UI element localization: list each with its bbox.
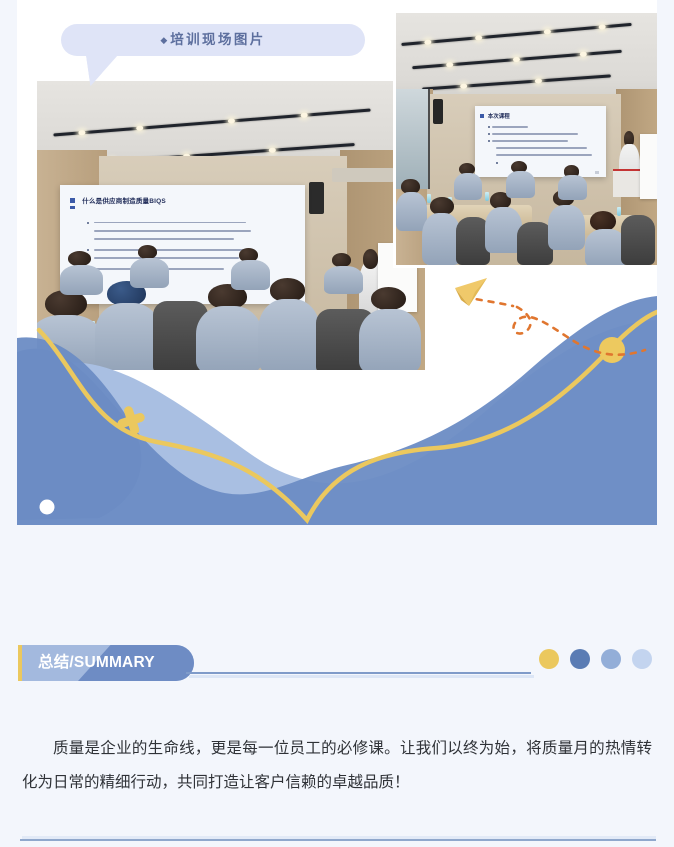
- training-photo-left[interactable]: 什么是供应商制造质量BIQS: [37, 81, 425, 370]
- section-badge-pill: ◆ 培训现场图片: [61, 24, 365, 56]
- summary-paragraph: 质量是企业的生命线，更是每一位员工的必修课。让我们以终为始，将质量月的热情转化为…: [22, 731, 652, 799]
- classroom-scene-right: 本次课程: [396, 13, 657, 265]
- badge-pointer: [86, 55, 118, 86]
- article-page: 什么是供应商制造质量BIQS: [0, 0, 674, 847]
- summary-rule-shadow: [189, 675, 534, 678]
- section-badge: ◆ 培训现场图片: [61, 24, 365, 84]
- summary-pill: 总结/SUMMARY: [22, 645, 194, 681]
- slide-title: 什么是供应商制造质量BIQS: [82, 195, 166, 205]
- audience: [396, 152, 657, 265]
- dashed-trail: [513, 307, 645, 355]
- audience: [37, 231, 425, 370]
- wall-speaker: [433, 99, 443, 124]
- dashed-trail-start: [465, 297, 513, 306]
- dot-yellow: [539, 649, 559, 669]
- paper-plane-icon: [455, 278, 487, 306]
- cross-icon: [116, 405, 145, 435]
- yellow-node-circle: [599, 337, 625, 363]
- classroom-scene-left: 什么是供应商制造质量BIQS: [37, 81, 425, 370]
- hero-photo-card: 什么是供应商制造质量BIQS: [17, 0, 657, 525]
- diamond-icon: ◆: [160, 35, 167, 46]
- white-dot: [40, 500, 55, 515]
- dot-dark-blue: [570, 649, 590, 669]
- footer-divider: [20, 839, 656, 841]
- section-badge-label: 培训现场图片: [170, 33, 265, 47]
- dot-light-blue: [632, 649, 652, 669]
- air-vent: [332, 168, 394, 182]
- summary-pill-label: 总结/SUMMARY: [38, 645, 155, 681]
- summary-rule: [186, 672, 531, 674]
- summary-dot-group: [539, 649, 652, 669]
- dot-medium-blue: [601, 649, 621, 669]
- slide-title: 本次课程: [488, 112, 510, 120]
- wall-speaker: [309, 182, 325, 214]
- summary-section-header: 总结/SUMMARY: [18, 645, 656, 681]
- training-photo-right[interactable]: 本次课程: [396, 13, 657, 265]
